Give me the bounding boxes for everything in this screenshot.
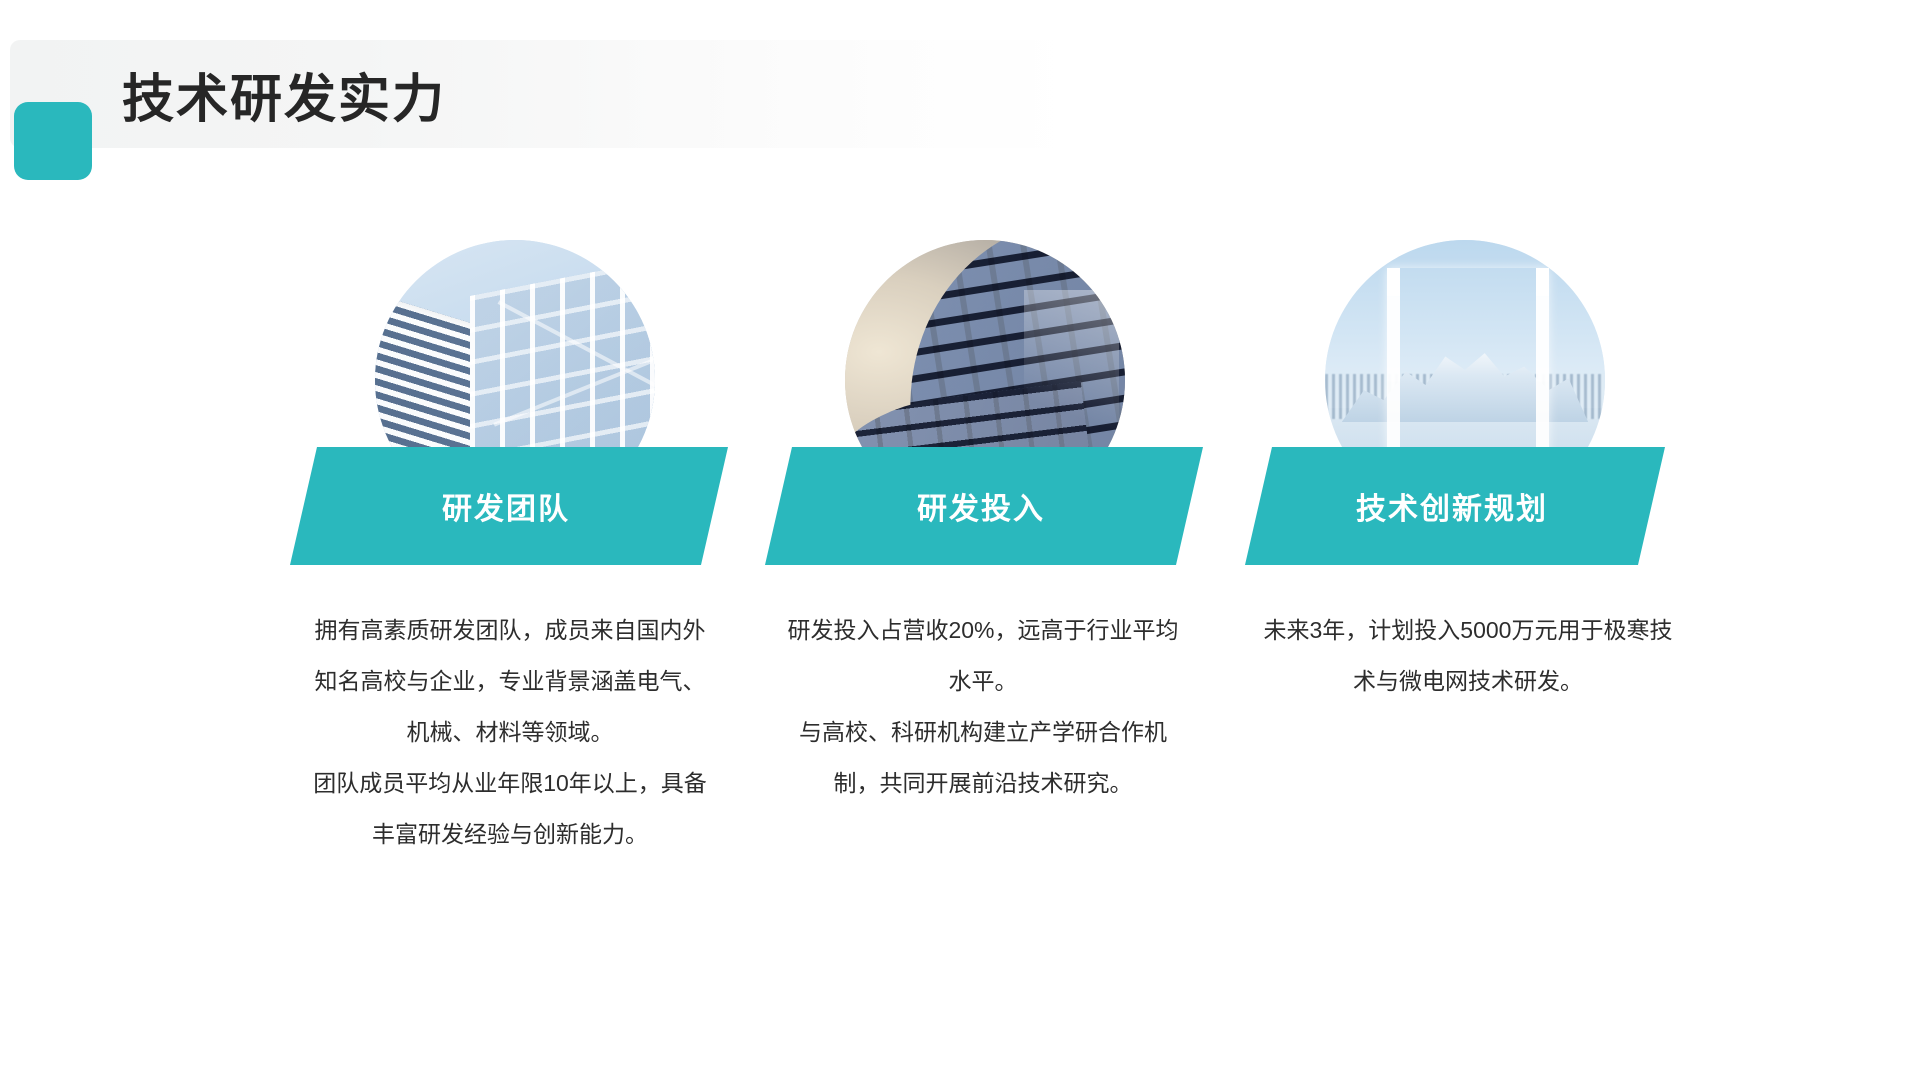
curved-facade-building-photo <box>845 240 1125 480</box>
banner-rd-investment[interactable]: 研发投入 <box>765 447 1203 565</box>
frame-top-left-stub <box>1387 268 1400 296</box>
banner-label: 技术创新规划 <box>1356 484 1548 528</box>
banner-label: 研发团队 <box>442 484 570 528</box>
photo-frame <box>845 240 1125 480</box>
feature-columns: 研发团队 拥有高素质研发团队，成员来自国内外知名高校与企业，专业背景涵盖电气、机… <box>0 0 1920 1080</box>
snow-mountain-frame-photo <box>1325 240 1605 480</box>
photo-frame <box>1325 240 1605 480</box>
photo-frame <box>375 240 655 480</box>
glass-office-building-photo <box>375 240 655 480</box>
banner-label: 研发投入 <box>917 484 1045 528</box>
body-text-rd-investment: 研发投入占营收20%，远高于行业平均水平。 与高校、科研机构建立产学研合作机制，… <box>783 605 1183 809</box>
banner-rd-team[interactable]: 研发团队 <box>290 447 728 565</box>
body-text-rd-team: 拥有高素质研发团队，成员来自国内外知名高校与企业，专业背景涵盖电气、机械、材料等… <box>310 605 710 860</box>
banner-tech-innovation-plan[interactable]: 技术创新规划 <box>1245 447 1665 565</box>
slide-root: 技术研发实力 研发团队 拥有高素质研发团队，成员来自国内外知名高校与企业，专业背… <box>0 0 1920 1080</box>
frame-top-right-stub <box>1536 268 1549 296</box>
body-text-tech-innovation-plan: 未来3年，计划投入5000万元用于极寒技术与微电网技术研发。 <box>1253 605 1683 707</box>
